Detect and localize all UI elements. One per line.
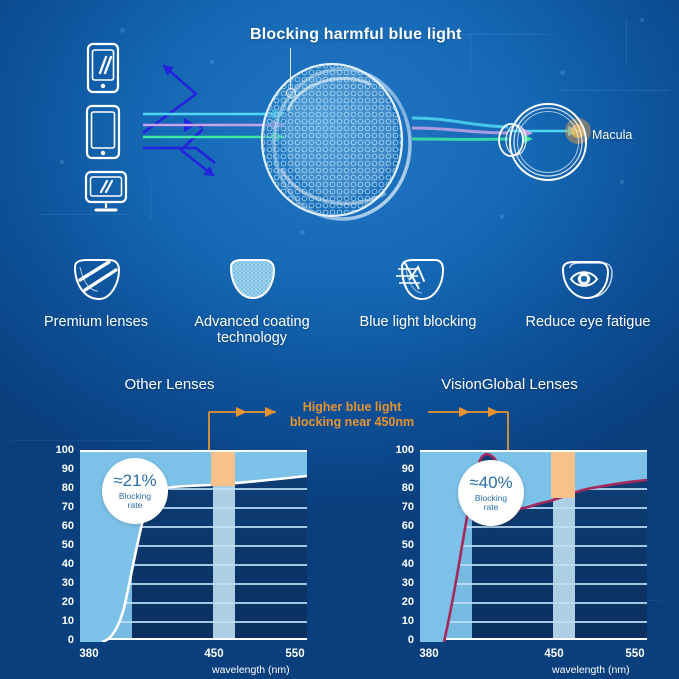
y-tick-20: 20 [388, 597, 414, 608]
chart-title: VisionGlobal Lenses [340, 376, 679, 393]
blocking-rate-value: ≈40% [469, 474, 512, 491]
y-tick-20: 20 [48, 597, 74, 608]
y-tick-60: 60 [48, 521, 74, 532]
feature-row: Premium lenses [0, 252, 679, 357]
feature-advanced-coating: Advanced coating technology [168, 252, 336, 346]
y-tick-50: 50 [388, 540, 414, 551]
blocking-rate-value: ≈21% [113, 472, 156, 489]
y-tick-10: 10 [388, 616, 414, 627]
feature-label: Reduce eye fatigue [500, 314, 676, 330]
y-tick-30: 30 [388, 578, 414, 589]
title-leader-line [290, 48, 291, 90]
chart-panel-visionglobal-lenses: VisionGlobal Lenses ≈40% Blocking rate [340, 368, 679, 679]
y-tick-80: 80 [48, 483, 74, 494]
plot-area-other-lenses: ≈21% Blocking rate [80, 450, 307, 640]
y-tick-0: 0 [48, 635, 74, 646]
title-leader-dot [286, 88, 296, 98]
blocking-rate-caption: Blocking rate [475, 494, 507, 512]
chart-title: Other Lenses [0, 376, 339, 393]
x-tick-450: 450 [197, 648, 231, 660]
y-tick-60: 60 [388, 521, 414, 532]
y-tick-10: 10 [48, 616, 74, 627]
y-tick-70: 70 [48, 502, 74, 513]
y-tick-80: 80 [388, 483, 414, 494]
x-axis-title: wavelength (nm) [552, 664, 630, 676]
feature-label: Premium lenses [6, 314, 186, 330]
y-tick-100: 100 [48, 445, 74, 456]
infographic-root: Blocking harmful blue light Macula [0, 0, 679, 679]
premium-lens-icon [6, 252, 186, 308]
illustration-section: Blocking harmful blue light Macula [0, 0, 679, 250]
coated-lens-icon [252, 62, 422, 222]
feature-blue-light-blocking: Blue light blocking [330, 252, 506, 330]
x-tick-380: 380 [72, 648, 106, 660]
feature-label: Blue light blocking [330, 314, 506, 330]
y-tick-50: 50 [48, 540, 74, 551]
x-tick-450: 450 [537, 648, 571, 660]
blocking-rate-caption: Blocking rate [119, 492, 151, 510]
x-tick-550: 550 [618, 648, 652, 660]
eye-fatigue-icon [500, 252, 676, 308]
orange-marker-bar [551, 452, 575, 498]
feature-premium-lenses: Premium lenses [6, 252, 186, 330]
charts-section: Higher blue light blocking near 450nm Ot… [0, 368, 679, 679]
y-tick-0: 0 [388, 635, 414, 646]
y-tick-40: 40 [388, 559, 414, 570]
illustration-title-block: Blocking harmful blue light [250, 26, 510, 44]
y-tick-70: 70 [388, 502, 414, 513]
coating-mesh-icon [168, 252, 336, 308]
blocking-rate-badge: ≈21% Blocking rate [102, 458, 168, 524]
y-tick-100: 100 [388, 445, 414, 456]
illustration-title: Blocking harmful blue light [250, 26, 510, 44]
transmittance-curve-visionglobal [420, 452, 647, 642]
y-tick-90: 90 [388, 464, 414, 475]
x-tick-380: 380 [412, 648, 446, 660]
blocking-rate-badge: ≈40% Blocking rate [458, 460, 524, 526]
chart-panel-other-lenses: Other Lenses [0, 368, 339, 679]
y-tick-90: 90 [48, 464, 74, 475]
eyeball-icon [492, 96, 590, 194]
plot-area-visionglobal: ≈40% Blocking rate [420, 450, 647, 640]
macula-label: Macula [592, 128, 632, 142]
y-tick-30: 30 [48, 578, 74, 589]
y-tick-40: 40 [48, 559, 74, 570]
feature-reduce-eye-fatigue: Reduce eye fatigue [500, 252, 676, 330]
x-tick-550: 550 [278, 648, 312, 660]
orange-marker-bar [211, 452, 235, 486]
feature-label: Advanced coating technology [168, 314, 336, 346]
blue-light-block-icon [330, 252, 506, 308]
x-axis-title: wavelength (nm) [212, 664, 290, 676]
